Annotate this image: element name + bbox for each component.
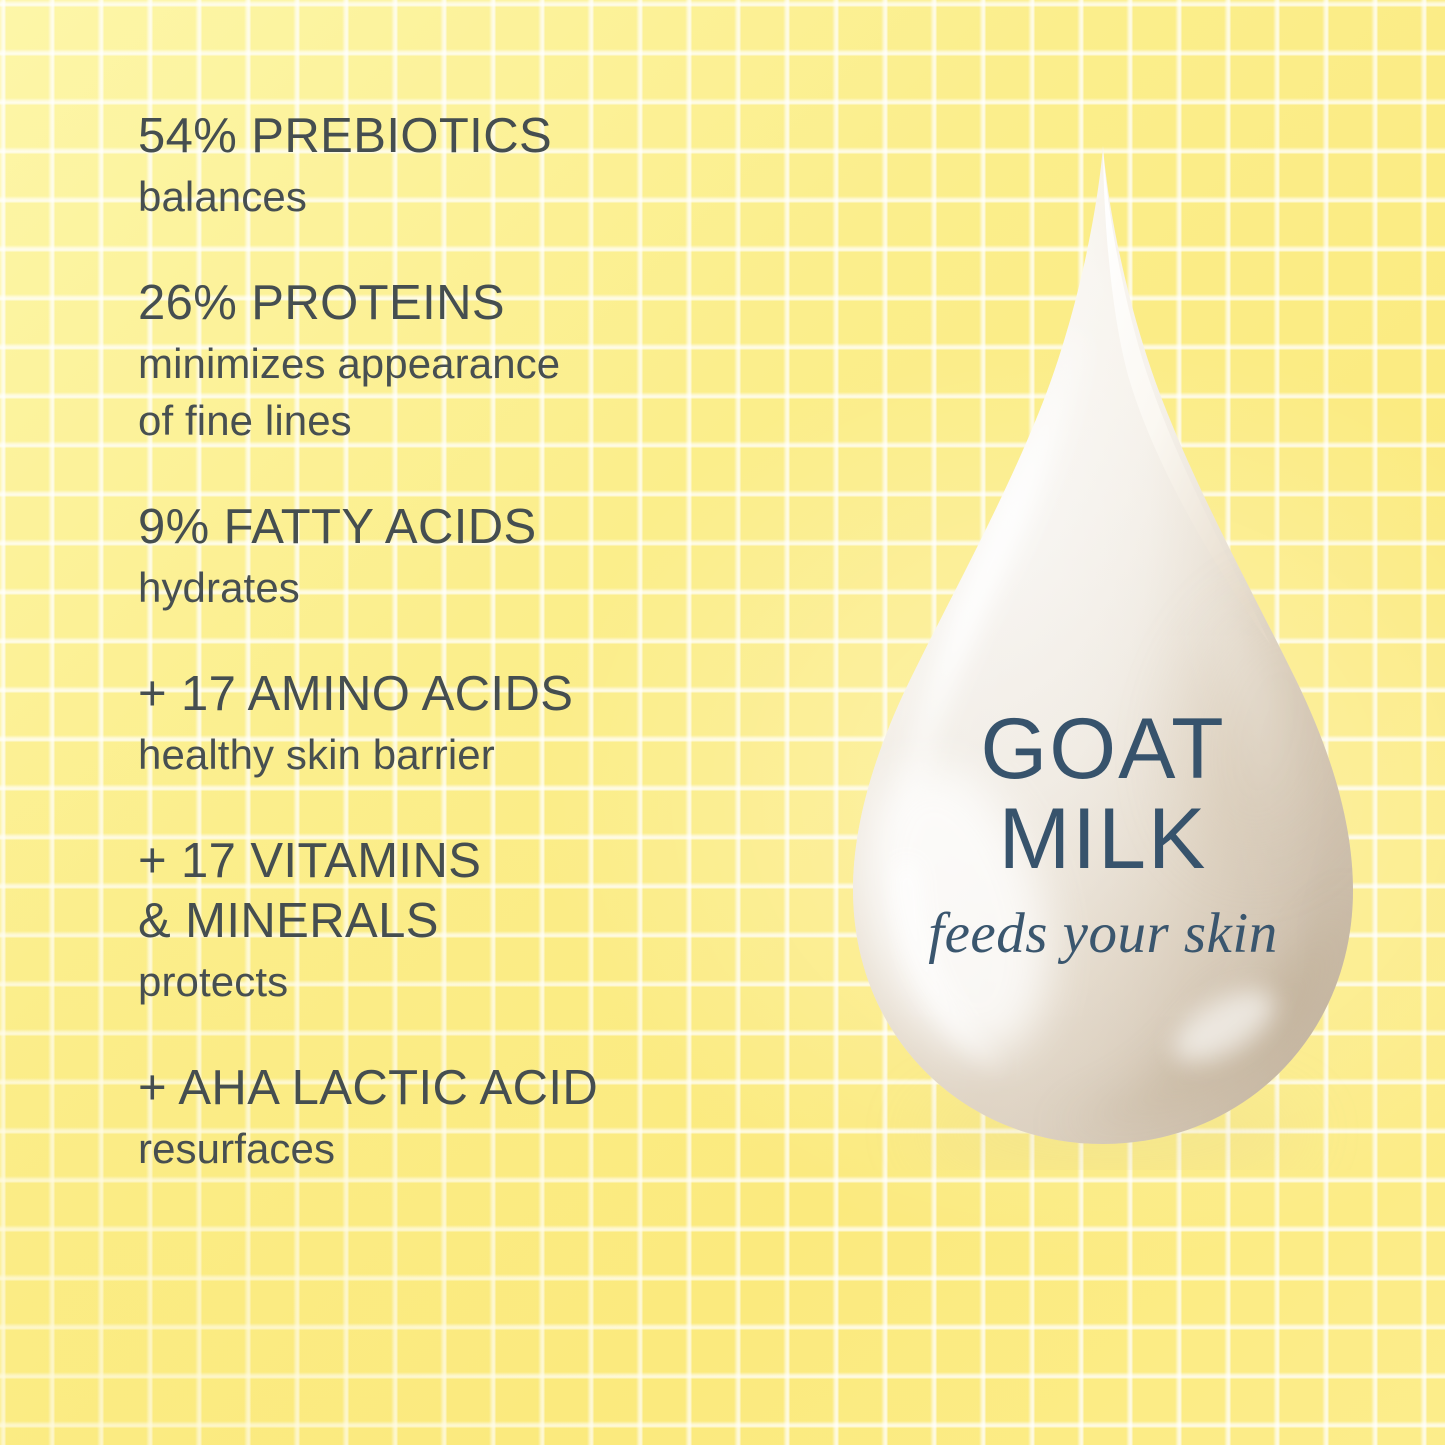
ingredient-item-aha-lactic-acid: + AHA LACTIC ACID resurfaces xyxy=(138,1058,798,1177)
ingredient-benefit: resurfaces xyxy=(138,1120,798,1177)
ingredient-benefit: protects xyxy=(138,953,798,1010)
ingredient-title: 9% FATTY ACIDS xyxy=(138,497,798,557)
ingredient-item-fatty-acids: 9% FATTY ACIDS hydrates xyxy=(138,497,798,616)
ingredient-benefit: minimizes appearance of fine lines xyxy=(138,335,798,449)
ingredient-title: + 17 AMINO ACIDS xyxy=(138,664,798,724)
milk-droplet-icon xyxy=(800,120,1406,1170)
ingredient-title: 26% PROTEINS xyxy=(138,273,798,333)
ingredient-item-amino-acids: + 17 AMINO ACIDS healthy skin barrier xyxy=(138,664,798,783)
ingredient-title: 54% PREBIOTICS xyxy=(138,106,798,166)
ingredient-list: 54% PREBIOTICS balances 26% PROTEINS min… xyxy=(138,106,798,1177)
infographic-canvas: 54% PREBIOTICS balances 26% PROTEINS min… xyxy=(0,0,1445,1445)
ingredient-item-proteins: 26% PROTEINS minimizes appearance of fin… xyxy=(138,273,798,449)
droplet-bottom-shading xyxy=(800,120,1406,1170)
ingredient-benefit: healthy skin barrier xyxy=(138,726,798,783)
ingredient-item-prebiotics: 54% PREBIOTICS balances xyxy=(138,106,798,225)
ingredient-benefit: balances xyxy=(138,168,798,225)
ingredient-benefit: hydrates xyxy=(138,559,798,616)
ingredient-title: + AHA LACTIC ACID xyxy=(138,1058,798,1118)
ingredient-title: + 17 VITAMINS & MINERALS xyxy=(138,831,798,951)
ingredient-item-vitamins-minerals: + 17 VITAMINS & MINERALS protects xyxy=(138,831,798,1010)
